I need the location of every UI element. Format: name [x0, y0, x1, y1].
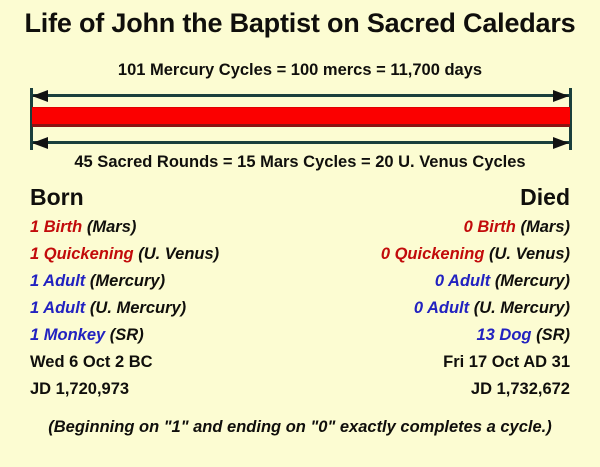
died-date: Fri 17 Oct AD 31: [296, 349, 570, 376]
infographic-page: Life of John the Baptist on Sacred Caled…: [0, 0, 600, 467]
arrow-shaft-bottom: [32, 141, 570, 144]
entry-paren: (Mercury): [495, 272, 570, 290]
entry-paren: (U. Venus): [489, 245, 570, 263]
born-died-columns: Born 1 Birth (Mars) 1 Quickening (U. Ven…: [0, 182, 600, 412]
entry-lead: 1 Adult: [30, 272, 85, 290]
footer-note: (Beginning on "1" and ending on "0" exac…: [0, 418, 600, 437]
list-item: 1 Monkey (SR): [30, 322, 304, 349]
arrowhead-left-top-icon: [32, 90, 48, 102]
list-item: 0 Adult (Mercury): [296, 268, 570, 295]
born-date: Wed 6 Oct 2 BC: [30, 349, 304, 376]
timeline-diagram: [30, 88, 572, 150]
entry-lead: 1 Birth: [30, 218, 82, 236]
entry-paren: (SR): [110, 326, 144, 344]
list-item: 1 Birth (Mars): [30, 214, 304, 241]
entry-paren: (SR): [536, 326, 570, 344]
entry-lead: 1 Quickening: [30, 245, 134, 263]
entry-lead: 0 Birth: [464, 218, 516, 236]
list-item: 0 Adult (U. Mercury): [296, 295, 570, 322]
arrow-shaft-top: [32, 94, 570, 97]
column-born: Born 1 Birth (Mars) 1 Quickening (U. Ven…: [30, 182, 304, 403]
column-died-header: Died: [296, 182, 570, 212]
died-julian-day: JD 1,732,672: [296, 376, 570, 403]
born-julian-day: JD 1,720,973: [30, 376, 304, 403]
list-item: 0 Quickening (U. Venus): [296, 241, 570, 268]
list-item: 1 Adult (Mercury): [30, 268, 304, 295]
entry-paren: (Mars): [87, 218, 137, 236]
list-item: 1 Adult (U. Mercury): [30, 295, 304, 322]
diagram-caption-bottom: 45 Sacred Rounds = 15 Mars Cycles = 20 U…: [0, 153, 600, 172]
entry-paren: (Mercury): [90, 272, 165, 290]
column-died: Died 0 Birth (Mars) 0 Quickening (U. Ven…: [296, 182, 570, 403]
red-duration-band: [32, 107, 570, 127]
arrowhead-right-top-icon: [553, 90, 569, 102]
arrowhead-left-bottom-icon: [32, 137, 48, 149]
entry-paren: (U. Mercury): [90, 299, 186, 317]
column-born-header: Born: [30, 182, 304, 212]
entry-paren: (U. Mercury): [474, 299, 570, 317]
list-item: 13 Dog (SR): [296, 322, 570, 349]
entry-lead: 13 Dog: [476, 326, 531, 344]
diagram-caption-top: 101 Mercury Cycles = 100 mercs = 11,700 …: [0, 61, 600, 80]
entry-paren: (Mars): [520, 218, 570, 236]
list-item: 0 Birth (Mars): [296, 214, 570, 241]
list-item: 1 Quickening (U. Venus): [30, 241, 304, 268]
entry-lead: 0 Quickening: [381, 245, 485, 263]
entry-paren: (U. Venus): [138, 245, 219, 263]
entry-lead: 0 Adult: [414, 299, 469, 317]
entry-lead: 0 Adult: [435, 272, 490, 290]
entry-lead: 1 Adult: [30, 299, 85, 317]
page-title: Life of John the Baptist on Sacred Caled…: [0, 8, 600, 39]
arrowhead-right-bottom-icon: [553, 137, 569, 149]
entry-lead: 1 Monkey: [30, 326, 105, 344]
